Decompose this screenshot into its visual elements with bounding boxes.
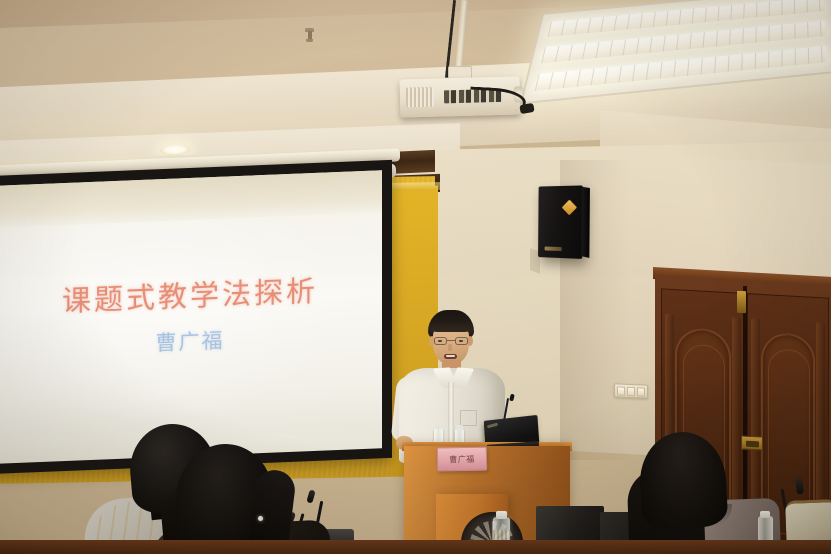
podium-nameplate-text: 曹广福: [449, 453, 475, 464]
light-switch-toggle-3[interactable]: [637, 387, 645, 396]
light-switch-toggle-1[interactable]: [617, 386, 625, 395]
wall-light-switch[interactable]: [614, 383, 648, 398]
speaker-brand-diamond-icon: [562, 200, 577, 216]
wall-speaker: [538, 185, 583, 259]
slide-subtitle: 曹广福: [0, 324, 382, 360]
projector-vent: [406, 87, 435, 108]
lecture-room-photo: 课题式教学法探析 曹广福 曹: [0, 0, 831, 554]
door-upper-latch[interactable]: [737, 291, 746, 313]
podium-nameplate: 曹广福: [437, 447, 487, 472]
presenter-mouth: [444, 354, 457, 359]
presenter-shirt-pocket: [460, 410, 477, 426]
speaker-side-panel: [581, 187, 590, 258]
door-lock-plate[interactable]: [741, 435, 763, 450]
fire-sprinkler-icon: [305, 28, 314, 44]
audience-member-middle-earring: [258, 516, 263, 521]
foreground-table-edge: [0, 540, 831, 554]
slide-title: 课题式教学法探析: [0, 274, 382, 318]
projection-screen-frame: 课题式教学法探析 曹广福: [0, 160, 392, 474]
projection-screen-surface: 课题式教学法探析 曹广福: [0, 170, 382, 463]
light-switch-toggle-2[interactable]: [627, 387, 635, 396]
speaker-brand-label: [545, 246, 562, 251]
presenter-nose: [448, 344, 452, 351]
presenter-hair-fringe: [430, 318, 472, 332]
projection-screen-top-band: [0, 170, 382, 227]
slide-content: 课题式教学法探析 曹广福: [0, 274, 382, 360]
